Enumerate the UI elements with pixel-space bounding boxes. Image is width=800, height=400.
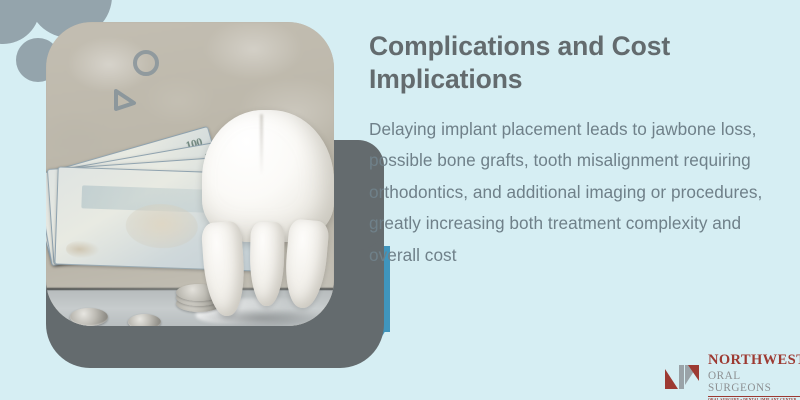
text-column: Complications and Cost Implications Dela… (369, 30, 785, 271)
logo-mark-icon (663, 363, 703, 391)
tooth-groove (260, 114, 263, 176)
logo-line-2: ORAL SURGEONS (708, 370, 800, 394)
coin (128, 314, 161, 326)
tooth-model (198, 110, 334, 318)
logo-divider (708, 396, 800, 397)
ring-outline-icon (133, 50, 159, 76)
logo-line-1: NORTHWEST (708, 352, 800, 369)
tooth-root (282, 218, 330, 309)
triangle-outline-icon (110, 85, 140, 113)
logo-wordmark: NORTHWEST ORAL SURGEONS ORAL SURGERY • D… (708, 352, 800, 400)
photo-illustration: 100 100 100 100 (46, 22, 334, 326)
body-paragraph: Delaying implant placement leads to jawb… (369, 114, 785, 271)
coin (70, 308, 108, 326)
infographic-canvas: 100 100 100 100 (0, 0, 800, 400)
hero-photo: 100 100 100 100 (46, 22, 334, 326)
tooth-root (201, 221, 247, 318)
page-title: Complications and Cost Implications (369, 30, 785, 96)
tooth-root (249, 222, 284, 307)
brand-logo[interactable]: NORTHWEST ORAL SURGEONS ORAL SURGERY • D… (663, 358, 795, 396)
